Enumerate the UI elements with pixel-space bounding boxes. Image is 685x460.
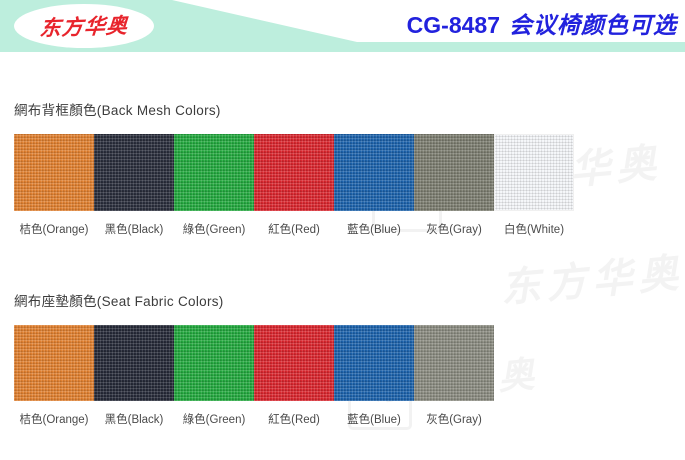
company-logo-text: 东方华奥 [39,9,129,42]
product-code: CG-8487 [407,12,500,38]
swatch-row-back-mesh: 桔色(Orange) 黑色(Black) 綠色(Green) 紅色(Red) 藍… [14,134,574,237]
swatch-item-green[interactable]: 綠色(Green) [174,134,254,237]
swatch-color-black[interactable] [94,325,174,401]
swatch-color-blue[interactable] [334,325,414,401]
swatch-label-red: 紅色(Red) [254,411,334,427]
swatch-item-black[interactable]: 黑色(Black) [94,134,174,237]
swatch-item-blue[interactable]: 藍色(Blue) [334,325,414,427]
swatch-label-gray: 灰色(Gray) [414,411,494,427]
swatch-color-red[interactable] [254,325,334,401]
swatch-label-orange: 桔色(Orange) [14,221,94,237]
page-title-text: 会议椅颜色可选 [509,12,677,39]
section-title-back-mesh: 網布背框顏色(Back Mesh Colors) [14,99,221,119]
swatch-item-red[interactable]: 紅色(Red) [254,134,334,237]
swatch-label-gray: 灰色(Gray) [414,221,494,237]
swatch-label-orange: 桔色(Orange) [14,411,94,427]
swatch-color-green[interactable] [174,134,254,211]
swatch-item-black[interactable]: 黑色(Black) [94,325,174,427]
swatch-color-blue[interactable] [334,134,414,211]
swatch-color-orange[interactable] [14,134,94,211]
page-header: 东方华奥 CG-8487 会议椅颜色可选 [0,0,685,52]
swatch-label-green: 綠色(Green) [174,221,254,237]
swatch-item-orange[interactable]: 桔色(Orange) [14,325,94,427]
page-title: CG-8487 会议椅颜色可选 [407,6,677,40]
swatch-label-red: 紅色(Red) [254,221,334,237]
swatch-color-black[interactable] [94,134,174,211]
watermark-text: 东方华奥 [498,240,685,314]
swatch-item-blue[interactable]: 藍色(Blue) [334,134,414,237]
section-title-seat-fabric: 網布座墊顏色(Seat Fabric Colors) [14,290,224,310]
swatch-color-green[interactable] [174,325,254,401]
swatch-row-seat-fabric: 桔色(Orange) 黑色(Black) 綠色(Green) 紅色(Red) 藍… [14,325,494,427]
swatch-item-white[interactable]: 白色(White) [494,134,574,237]
swatch-label-black: 黑色(Black) [94,411,174,427]
swatch-color-gray[interactable] [414,134,494,211]
company-logo: 东方华奥 [14,4,154,48]
swatch-label-green: 綠色(Green) [174,411,254,427]
swatch-label-white: 白色(White) [494,221,574,237]
swatch-item-orange[interactable]: 桔色(Orange) [14,134,94,237]
swatch-label-black: 黑色(Black) [94,221,174,237]
swatch-color-white[interactable] [494,134,574,211]
swatch-color-orange[interactable] [14,325,94,401]
swatch-item-green[interactable]: 綠色(Green) [174,325,254,427]
swatch-item-gray[interactable]: 灰色(Gray) [414,134,494,237]
swatch-color-gray[interactable] [414,325,494,401]
swatch-item-gray[interactable]: 灰色(Gray) [414,325,494,427]
swatch-color-red[interactable] [254,134,334,211]
swatch-item-red[interactable]: 紅色(Red) [254,325,334,427]
swatch-label-blue: 藍色(Blue) [334,221,414,237]
swatch-label-blue: 藍色(Blue) [334,411,414,427]
